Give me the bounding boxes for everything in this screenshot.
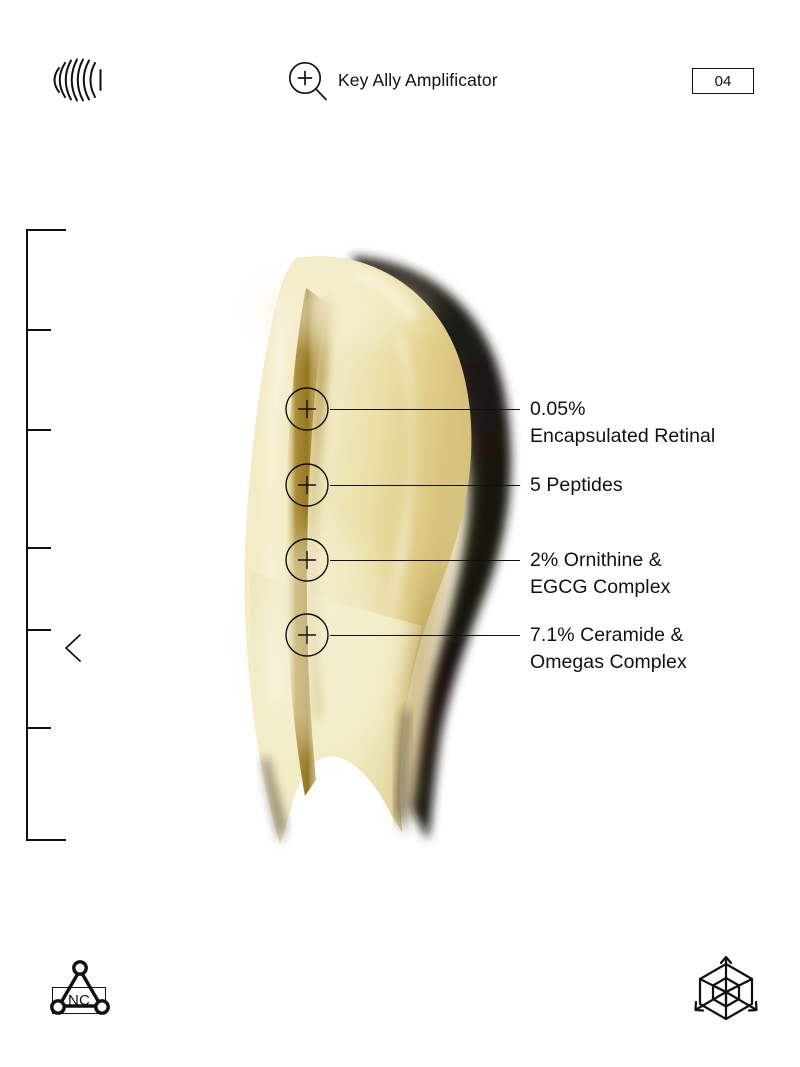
scale-tick xyxy=(26,727,51,729)
callout-label-0: 0.05% Encapsulated Retinal xyxy=(530,396,715,450)
swatch-mid-sheen xyxy=(254,530,394,750)
scale-tick xyxy=(26,329,51,331)
poster-canvas: Key Ally Amplificator 04 NC xyxy=(0,0,800,1067)
scale-spine xyxy=(26,229,28,841)
scale-tick xyxy=(26,429,51,431)
scale-arm-top xyxy=(26,229,66,231)
header: Key Ally Amplificator 04 xyxy=(0,0,800,160)
page-title: Key Ally Amplificator xyxy=(338,70,498,91)
page-number-badge: 04 xyxy=(692,68,754,94)
callout-label-1: 5 Peptides xyxy=(530,472,623,499)
isometric-cube-axes-icon xyxy=(690,952,762,1024)
scale-tick xyxy=(26,629,51,631)
callout-label-2: 2% Ornithine & EGCG Complex xyxy=(530,547,670,601)
swatch-top-sheen xyxy=(256,276,428,344)
callout-label-3: 7.1% Ceramide & Omegas Complex xyxy=(530,622,687,676)
chevron-left-icon xyxy=(62,633,84,663)
molecule-triangle-icon xyxy=(46,958,114,1020)
scale-tick xyxy=(26,547,51,549)
scale-arm-bottom xyxy=(26,839,66,841)
magnifier-plus-icon xyxy=(286,60,332,106)
wave-lines-icon xyxy=(50,54,106,106)
cream-swatch-image xyxy=(110,240,540,860)
